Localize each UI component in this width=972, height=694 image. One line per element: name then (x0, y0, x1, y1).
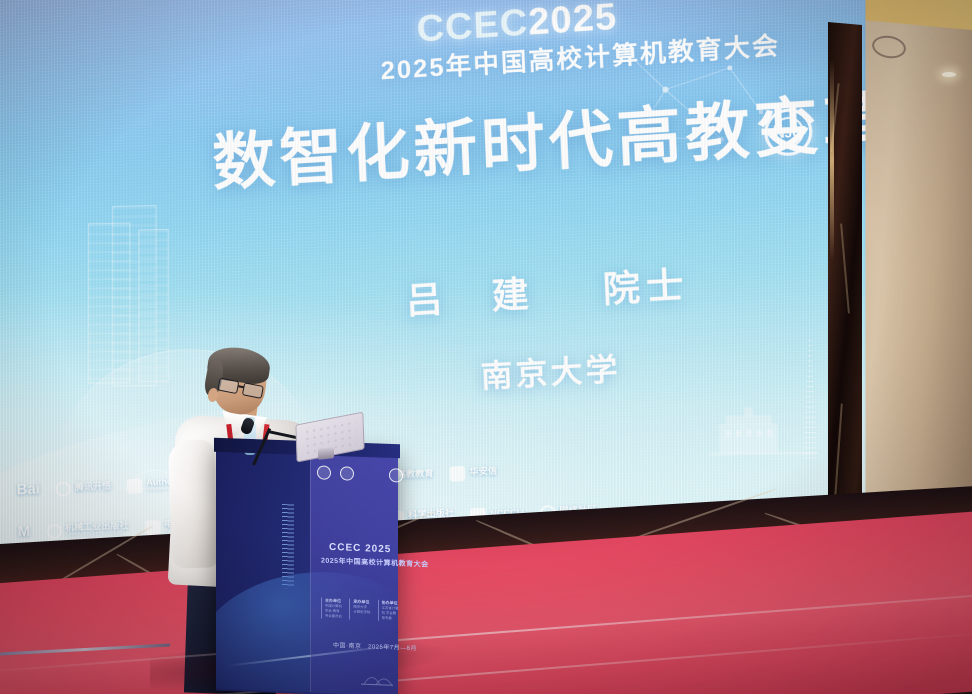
podium-date-line: 中国·南京 2025年7月—8月 (333, 640, 417, 652)
downlight-icon (942, 72, 956, 77)
podium-ccec-logo: CCEC 2025 (329, 542, 391, 555)
led-pixel-grid (0, 0, 865, 556)
podium-emblem-row (317, 465, 403, 482)
podium-organiser-columns: 主办单位 中国计算机学会 教育专业委员会 承办单位 南京大学 计算机学院 协办单… (321, 598, 399, 622)
podium: CCEC 2025 2025年中国高校计算机教育大会 主办单位 中国计算机学会 … (216, 444, 398, 694)
cccf-emblem-icon (317, 465, 331, 480)
sponsor-emblem-icon (389, 468, 403, 483)
laptop-hinge (318, 447, 334, 460)
podium-column: 协办单位 江苏省计算机 学会教育专委 (378, 600, 399, 622)
podium-info-panel: CCEC 2025 2025年中国高校计算机教育大会 主办单位 中国计算机学会 … (310, 449, 398, 694)
podium-venue-graphic (360, 664, 394, 687)
frame-highlight (830, 60, 834, 260)
podium-column: 承办单位 南京大学 计算机学院 (349, 599, 370, 621)
university-emblem-icon (340, 466, 354, 481)
podium-column: 主办单位 中国计算机学会 教育专业委员会 (321, 598, 342, 620)
led-screen: CCEC2025 2025年中国高校计算机教育大会 数智化新时代高教变革初探 吕… (0, 0, 865, 556)
speaker-left-arm (168, 439, 218, 569)
conference-stage-photo: CCEC2025 2025年中国高校计算机教育大会 数智化新时代高教变革初探 吕… (0, 0, 972, 694)
